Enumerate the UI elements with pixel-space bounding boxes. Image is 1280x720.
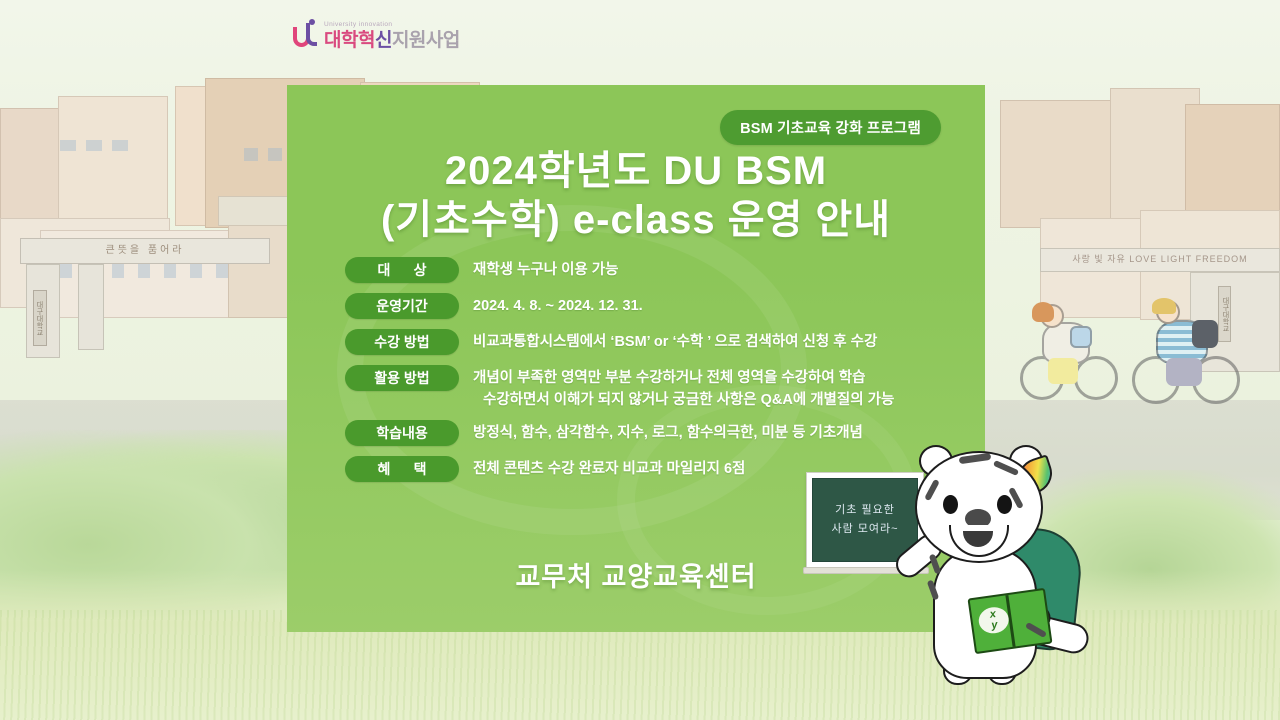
blackboard-line-1: 기초 필요한 <box>835 501 895 520</box>
info-row: 수강 방법 비교과통합시스템에서 ‘BSM’ or ‘수학 ’ 으로 검색하여 … <box>345 329 985 355</box>
window <box>86 140 102 151</box>
logo-j-shape <box>306 23 317 46</box>
row-label-target: 대 상 <box>345 257 459 283</box>
cyclist-left <box>1018 300 1128 410</box>
row-value-target: 재학생 누구나 이용 가능 <box>473 257 619 281</box>
row-label-enrollment: 수강 방법 <box>345 329 459 355</box>
logo-dot <box>309 19 315 25</box>
blackboard-face: 기초 필요한 사람 모여라~ <box>812 478 918 562</box>
logo-korean-text: 대학혁신지원사업 <box>324 31 460 50</box>
logo-kr-part1: 대학혁 <box>324 30 375 51</box>
gate-pillar <box>78 264 104 350</box>
window <box>60 140 76 151</box>
info-rows: 대 상 재학생 누구나 이용 가능 운영기간 2024. 4. 8. ~ 202… <box>345 257 985 492</box>
rider-legs <box>1048 358 1078 384</box>
building <box>58 96 168 226</box>
row-value-usage: 개념이 부족한 영역만 부분 수강하거나 전체 영역을 수강하여 학습 수강하면… <box>473 365 894 412</box>
rider-hair <box>1032 302 1054 322</box>
row-label-usage: 활용 방법 <box>345 365 459 391</box>
logo-english-text: University innovation <box>324 22 460 29</box>
logo-text: University innovation 대학혁신지원사업 <box>324 22 460 50</box>
logo-kr-part2: 신 <box>375 30 392 51</box>
blackboard-line-2: 사람 모여라~ <box>831 520 898 539</box>
info-row: 대 상 재학생 누구나 이용 가능 <box>345 257 985 283</box>
rider-backpack <box>1070 326 1092 348</box>
page-title: 2024학년도 DU BSM (기초수학) e-class 운영 안내 <box>287 147 985 245</box>
window <box>244 148 258 161</box>
rider-hair <box>1152 298 1176 314</box>
row-label-benefit: 혜 택 <box>345 456 459 482</box>
university-innovation-logo: University innovation 대학혁신지원사업 <box>293 18 468 54</box>
info-row: 운영기간 2024. 4. 8. ~ 2024. 12. 31. <box>345 293 985 319</box>
mascot-book: x y <box>967 588 1052 654</box>
row-label-period: 운영기간 <box>345 293 459 319</box>
row-value-benefit: 전체 콘텐츠 수강 완료자 비교과 마일리지 6점 <box>473 456 745 480</box>
row-value-period: 2024. 4. 8. ~ 2024. 12. 31. <box>473 293 643 317</box>
row-label-content: 학습내용 <box>345 420 459 446</box>
row-value-content: 방정식, 함수, 삼각함수, 지수, 로그, 함수의극한, 미분 등 기초개념 <box>473 420 863 444</box>
poster-canvas: 큰뜻을 품어라 대구대학교 사랑 빛 자유 LOVE LIGHT FREEDOM… <box>0 0 1280 720</box>
book-letter-y: y <box>991 620 999 632</box>
rider-backpack <box>1192 320 1218 348</box>
title-line-2: (기초수학) e-class 운영 안내 <box>287 196 985 245</box>
book-xy-badge: x y <box>977 605 1010 635</box>
cyclist-right <box>1130 298 1250 413</box>
window <box>268 148 282 161</box>
mascot-stripe <box>929 554 941 575</box>
window <box>112 140 128 151</box>
gate-right-text: 사랑 빛 자유 LOVE LIGHT FREEDOM <box>1040 252 1280 265</box>
logo-mark-icon <box>293 21 319 51</box>
rider-legs <box>1166 358 1202 386</box>
gate-left-plate: 대구대학교 <box>33 290 47 346</box>
tiger-mascot: x y <box>905 443 1110 705</box>
building <box>1000 100 1120 228</box>
mascot-eye-left <box>943 495 958 514</box>
info-row: 학습내용 방정식, 함수, 삼각함수, 지수, 로그, 함수의극한, 미분 등 … <box>345 420 985 446</box>
logo-kr-part3: 지원사업 <box>392 30 460 51</box>
title-line-1: 2024학년도 DU BSM <box>445 149 827 193</box>
gate-left-text: 큰뜻을 품어라 <box>20 241 270 256</box>
info-row: 활용 방법 개념이 부족한 영역만 부분 수강하거나 전체 영역을 수강하여 학… <box>345 365 985 412</box>
campus-gate-left: 큰뜻을 품어라 대구대학교 <box>20 238 270 358</box>
row-value-usage-line2: 수강하면서 이해가 되지 않거나 궁금한 사항은 Q&A에 개별질의 가능 <box>483 389 894 411</box>
row-value-usage-line1: 개념이 부족한 영역만 부분 수강하거나 전체 영역을 수강하여 학습 <box>473 370 865 386</box>
row-value-enrollment: 비교과통합시스템에서 ‘BSM’ or ‘수학 ’ 으로 검색하여 신청 후 수… <box>473 329 877 353</box>
mascot-eye-right <box>997 495 1012 514</box>
program-badge: BSM 기초교육 강화 프로그램 <box>720 110 941 145</box>
